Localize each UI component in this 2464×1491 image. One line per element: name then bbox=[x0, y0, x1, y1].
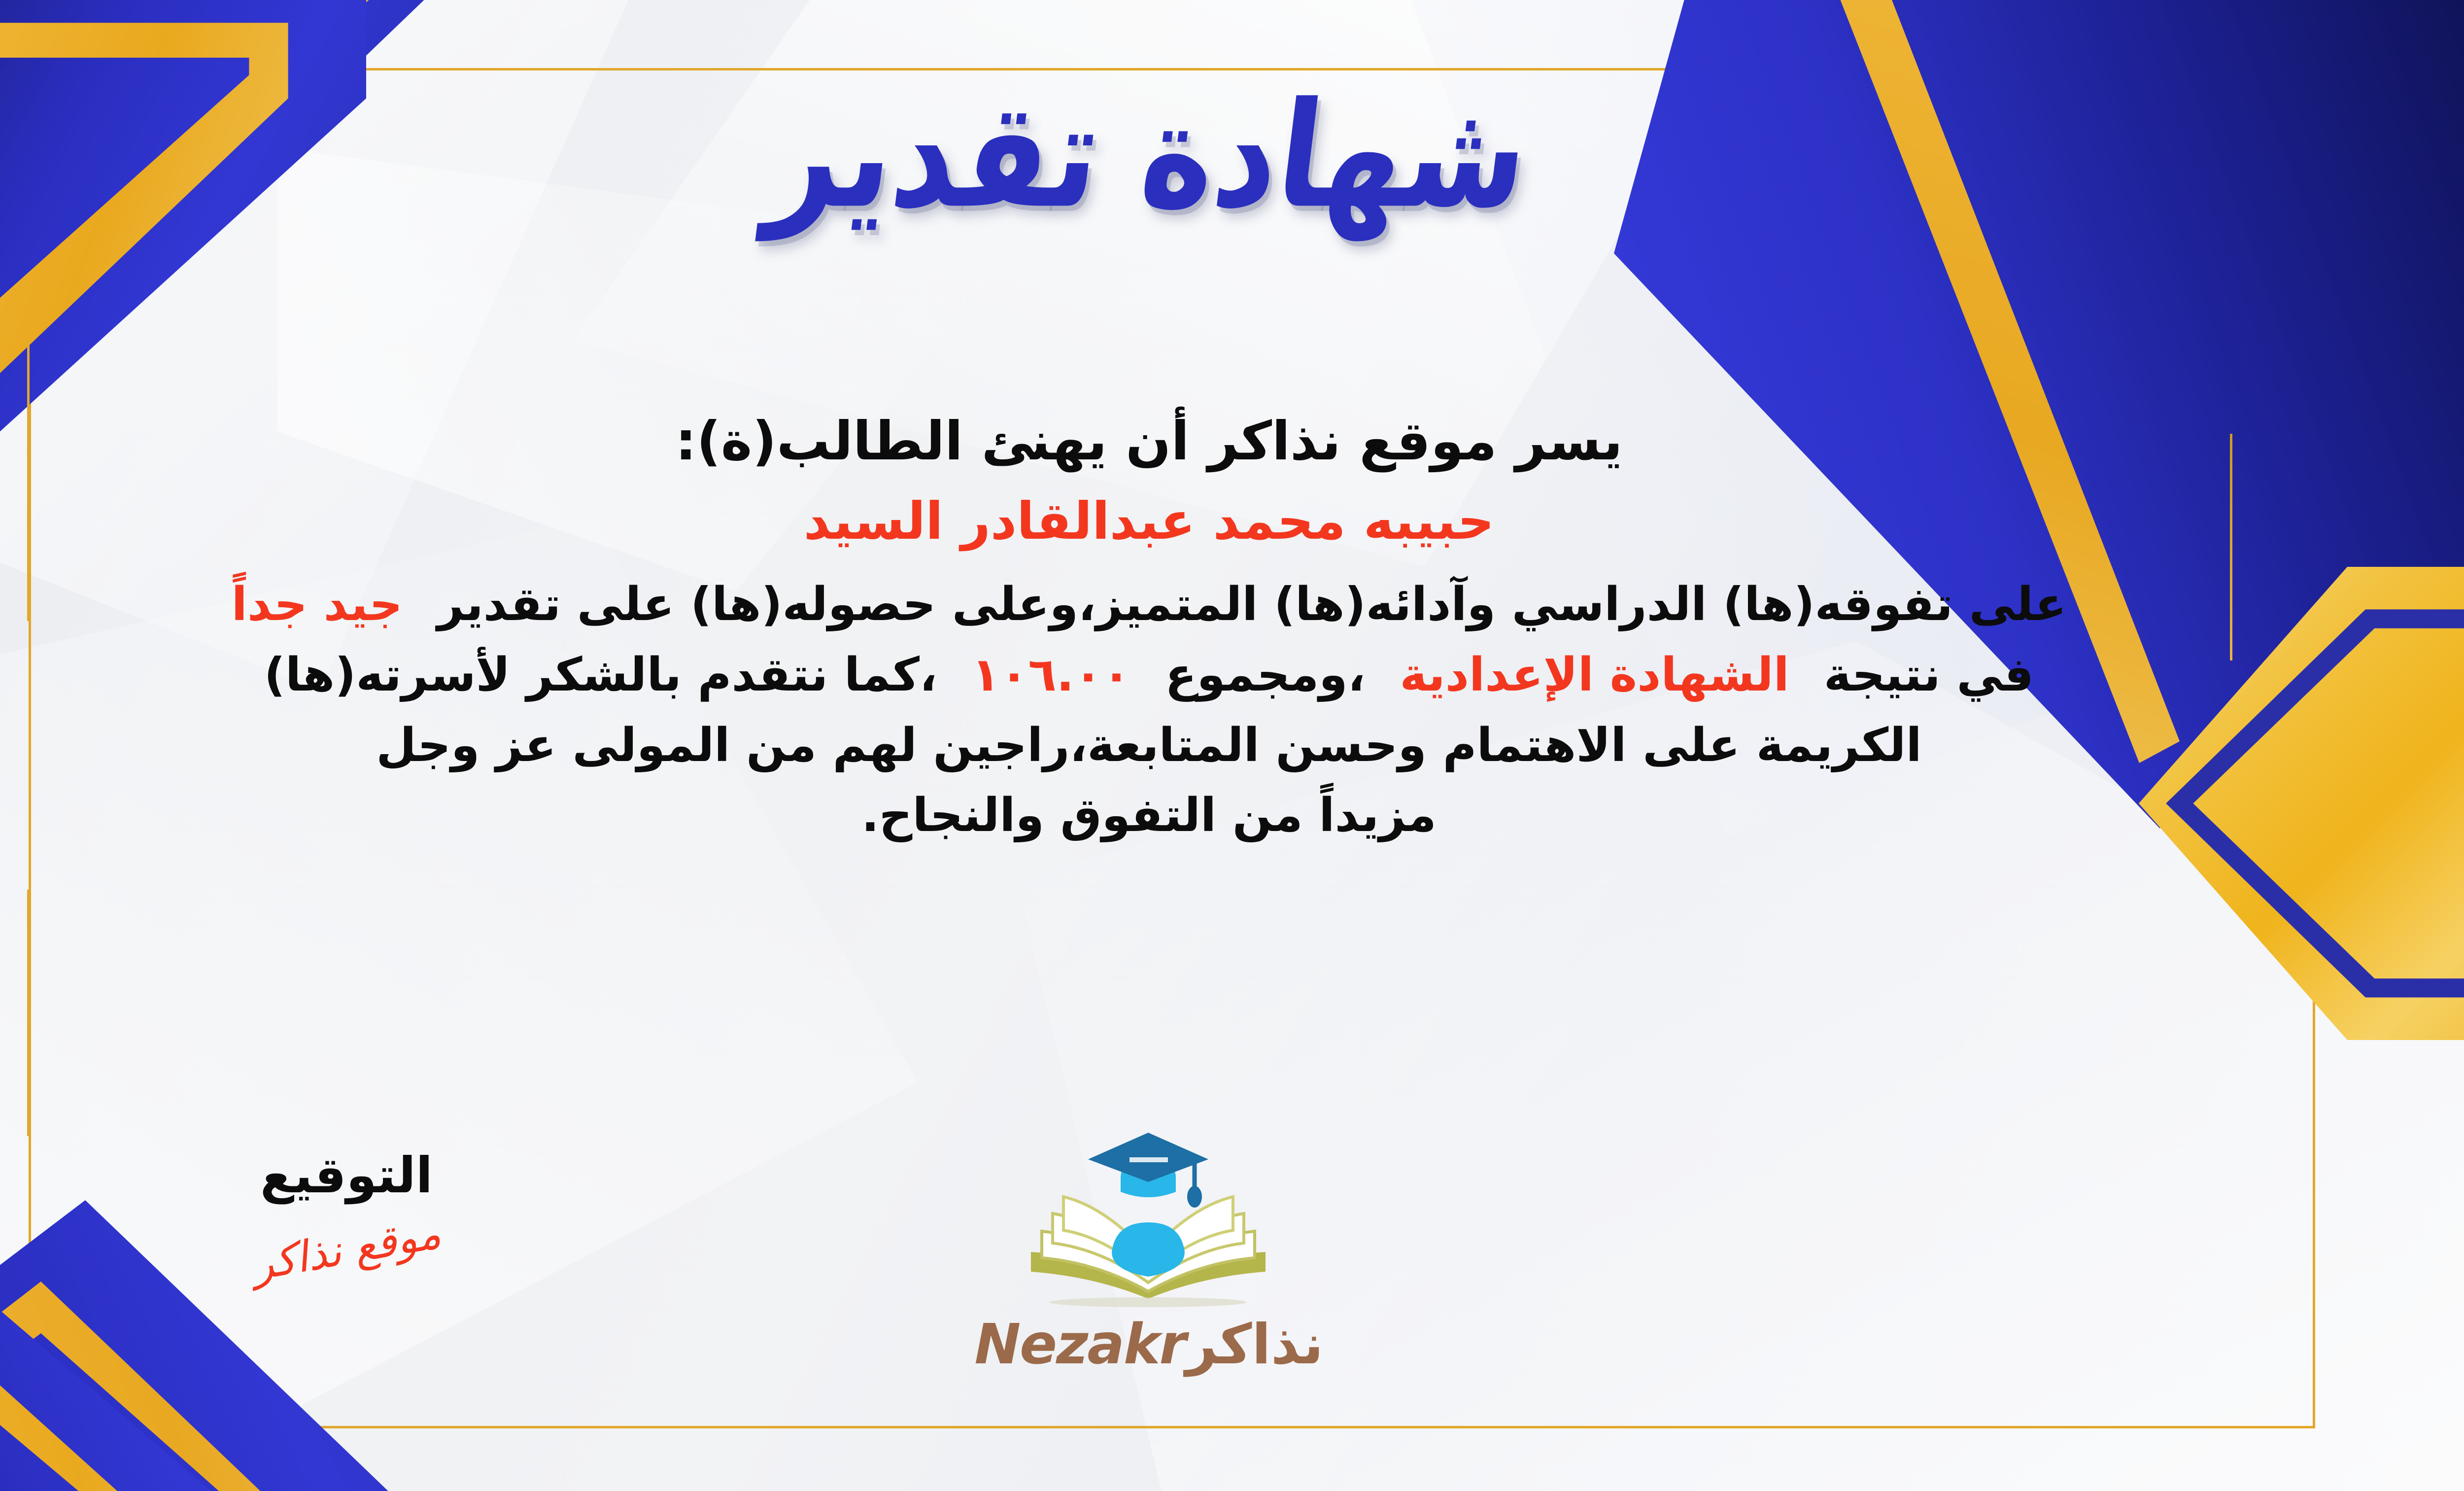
certificate-page: شهادة تقدير يسر موقع نذاكر أن يهنئ الطال… bbox=[0, 0, 2464, 1491]
logo-text-arabic: نذاكر bbox=[1186, 1313, 1324, 1377]
total-score-value: ١٠٦.٠٠ bbox=[972, 648, 1131, 702]
exam-prefix-text: في نتيجة bbox=[1824, 648, 2034, 702]
gold-vertical-tick-bottom-left bbox=[27, 890, 30, 1136]
logo-wordmark: نذاكرNezakr bbox=[974, 1317, 1323, 1372]
logo-text-latin: Nezakr bbox=[974, 1313, 1185, 1377]
grade-value: جيد جداً bbox=[232, 578, 403, 631]
intro-line: يسر موقع نذاكر أن يهنئ الطالب(ة): bbox=[46, 409, 2252, 474]
total-label: ،ومجموع bbox=[1165, 648, 1365, 702]
graduate-open-book-icon bbox=[1011, 1129, 1287, 1316]
gold-vertical-tick-top-left bbox=[27, 345, 30, 621]
exam-name: الشهادة الإعدادية bbox=[1400, 648, 1789, 702]
thanks-text: ،كما نتقدم بالشكر لأسرته(ها) bbox=[264, 648, 937, 702]
family-thanks-line: الكريمة على الاهتمام وحسن المتابعة،راجين… bbox=[376, 719, 1921, 772]
achievement-paragraph: على تفوقه(ها) الدراسي وآدائه(ها) المتميز… bbox=[46, 570, 2252, 852]
certificate-body: يسر موقع نذاكر أن يهنئ الطالب(ة): حبيبه … bbox=[46, 409, 2252, 851]
site-logo-block: نذاكرNezakr bbox=[0, 1129, 2464, 1372]
closing-wish-line: مزيداً من التفوق والنجاح. bbox=[861, 789, 1437, 842]
student-name: حبيبه محمد عبدالقادر السيد bbox=[46, 489, 2252, 553]
achievement-text-part-1: على تفوقه(ها) الدراسي وآدائه(ها) المتميز… bbox=[437, 578, 2066, 631]
